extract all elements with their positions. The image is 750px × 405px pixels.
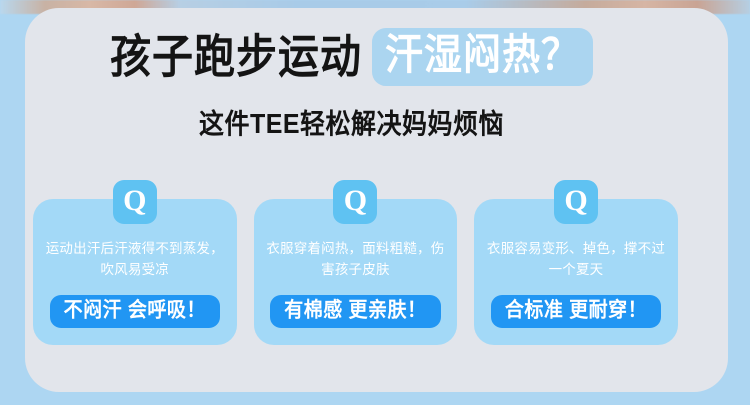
solution-text: 合标准 更耐穿！ [505, 300, 647, 321]
solution-text: 不闷汗 会呼吸！ [64, 300, 206, 321]
problem-card-3: Q 衣服容易变形、掉色，撑不过一个夏天 合标准 更耐穿！ [474, 199, 678, 345]
solution-badge[interactable]: 合标准 更耐穿！ [491, 295, 661, 328]
title-row: 孩子跑步运动 汗湿闷热？ [0, 26, 703, 88]
title-highlight-text: 汗湿闷热？ [385, 35, 580, 77]
question-mark-icon: Q [554, 180, 598, 224]
problem-card-2: Q 衣服穿着闷热，面料粗糙，伤害孩子皮肤 有棉感 更亲肤！ [254, 199, 458, 345]
problem-cards: Q 运动出汗后汗液得不到蒸发，吹风易受凉 不闷汗 会呼吸！ Q 衣服穿着闷热，面… [33, 199, 678, 345]
page-title: 孩子跑步运动 [110, 34, 362, 80]
q-letter: Q [123, 186, 146, 219]
problem-text: 运动出汗后汗液得不到蒸发，吹风易受凉 [33, 239, 237, 285]
problem-text: 衣服穿着闷热，面料粗糙，伤害孩子皮肤 [254, 239, 458, 285]
problem-text: 衣服容易变形、掉色，撑不过一个夏天 [474, 239, 678, 285]
question-mark-icon: Q [333, 180, 377, 224]
title-highlight-badge: 汗湿闷热？ [372, 28, 593, 86]
solution-text: 有棉感 更亲肤！ [284, 300, 426, 321]
page-subtitle: 这件TEE轻松解决妈妈烦恼 [0, 102, 703, 142]
problem-card-1: Q 运动出汗后汗液得不到蒸发，吹风易受凉 不闷汗 会呼吸！ [33, 199, 237, 345]
header-section: 孩子跑步运动 汗湿闷热？ 这件TEE轻松解决妈妈烦恼 [0, 26, 703, 140]
solution-badge[interactable]: 有棉感 更亲肤！ [270, 295, 440, 328]
solution-badge[interactable]: 不闷汗 会呼吸！ [50, 295, 220, 328]
q-letter: Q [564, 186, 587, 219]
q-letter: Q [344, 186, 367, 219]
promo-banner: 孩子跑步运动 汗湿闷热？ 这件TEE轻松解决妈妈烦恼 Q 运动出汗后汗液得不到蒸… [0, 0, 750, 405]
question-mark-icon: Q [113, 180, 157, 224]
